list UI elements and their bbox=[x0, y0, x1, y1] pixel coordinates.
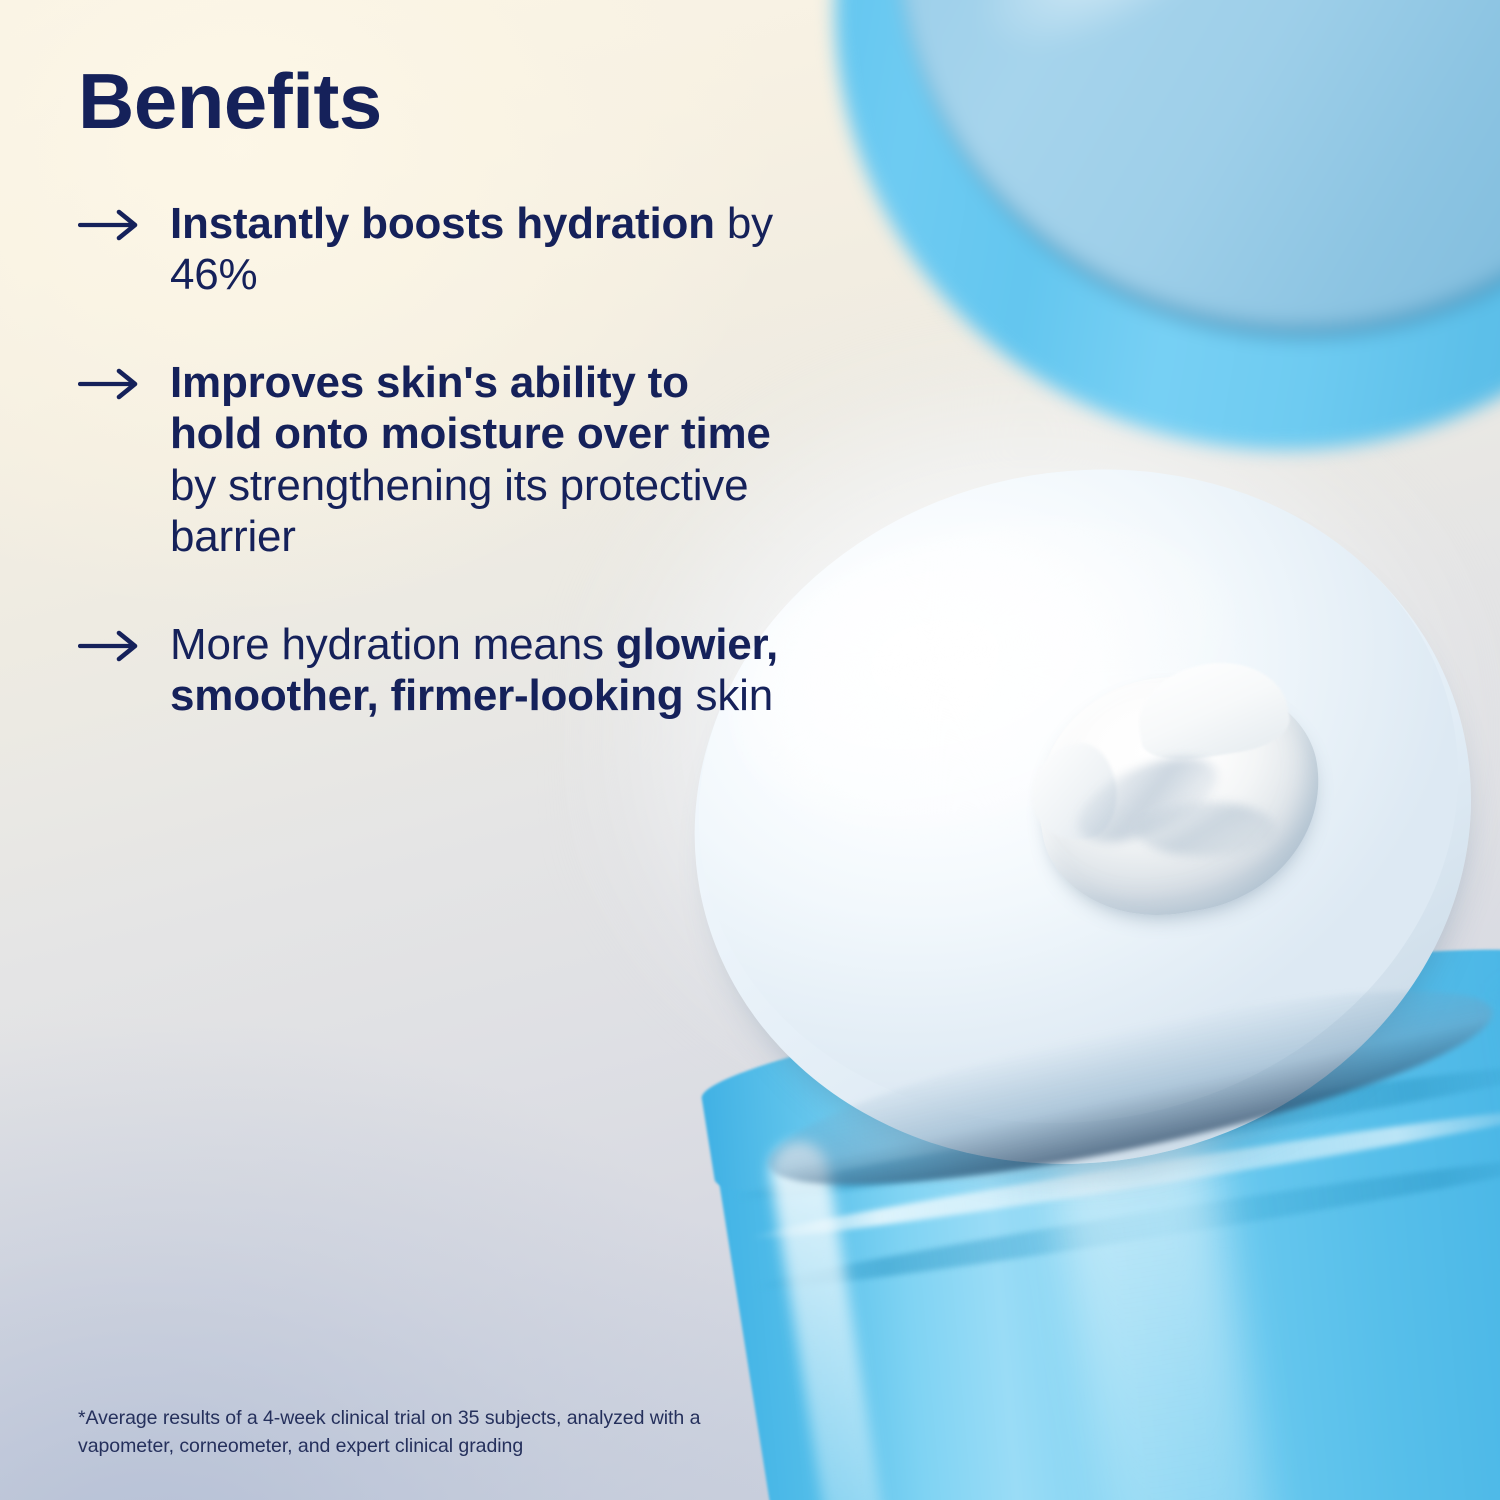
benefit-segment: Improves skin's ability to hold onto moi… bbox=[170, 358, 771, 458]
page-title: Benefits bbox=[78, 62, 778, 140]
arrow-right-icon bbox=[78, 357, 170, 401]
benefit-text: Improves skin's ability to hold onto moi… bbox=[170, 357, 778, 563]
benefit-segment: by strengthening its protective barrier bbox=[170, 461, 748, 561]
benefit-item-glow-smooth-firm: More hydration means glowier, smoother, … bbox=[78, 619, 778, 722]
arrow-right-icon bbox=[78, 198, 170, 242]
creative-asset: Benefits Instantly boosts hydration by 4… bbox=[0, 0, 1500, 1500]
benefits-list: Instantly boosts hydration by 46%Improve… bbox=[78, 198, 778, 722]
benefit-text: More hydration means glowier, smoother, … bbox=[170, 619, 778, 722]
cream-dollop bbox=[1021, 655, 1336, 932]
arrow-right-icon bbox=[78, 619, 170, 663]
benefit-text: Instantly boosts hydration by 46% bbox=[170, 198, 778, 301]
footnote-disclaimer: *Average results of a 4-week clinical tr… bbox=[78, 1404, 768, 1461]
benefits-panel: Benefits Instantly boosts hydration by 4… bbox=[78, 62, 778, 722]
benefit-segment: skin bbox=[684, 671, 773, 720]
benefit-segment: Instantly boosts hydration bbox=[170, 199, 715, 248]
jar-cap bbox=[835, 0, 1500, 450]
benefit-item-moisture-retention: Improves skin's ability to hold onto moi… bbox=[78, 357, 778, 563]
benefit-item-hydration-boost: Instantly boosts hydration by 46% bbox=[78, 198, 778, 301]
benefit-segment: More hydration means bbox=[170, 620, 616, 669]
